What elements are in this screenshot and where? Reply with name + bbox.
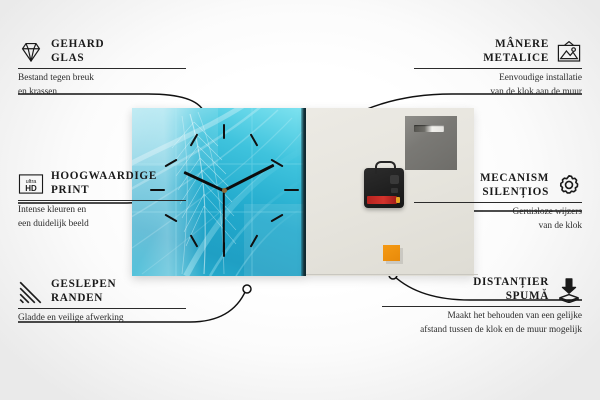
feature-title-2: METALICE xyxy=(483,52,549,66)
foam-spacer xyxy=(383,245,400,261)
feature-divider xyxy=(414,202,582,203)
feature-desc-1: Geruisloze wijzers xyxy=(412,206,582,219)
feature-desc-2: en krassen xyxy=(18,86,188,99)
feature-tempered-glass: GEHARD GLAS Bestand tegen breuk en krass… xyxy=(18,38,188,99)
feature-desc-1: Maakt het behouden van een gelijke xyxy=(382,310,582,323)
feature-title: HOOGWAARDIGE xyxy=(51,170,157,184)
ultra-hd-icon: ultra HD xyxy=(18,171,44,197)
clock-tick-3 xyxy=(284,189,299,191)
mechanism-dial xyxy=(390,175,399,184)
feature-title-2: GLAS xyxy=(51,52,104,66)
feature-desc-1: Gladde en veilige afwerking xyxy=(18,312,198,325)
feature-desc-1: Bestand tegen breuk xyxy=(18,72,188,85)
feature-desc-2: afstand tussen de klok en de muur mogeli… xyxy=(382,324,582,337)
feature-desc-2: van de klok xyxy=(412,220,582,233)
feature-divider xyxy=(18,308,186,309)
endpoint-edges xyxy=(243,285,251,293)
feature-title: MECANISM xyxy=(480,172,549,186)
feature-divider xyxy=(414,68,582,69)
spacer-arrow-icon xyxy=(556,277,582,303)
feature-silent-mechanism: MECANISM SILENȚIOS Geruisloze wijzers va… xyxy=(412,172,582,233)
feature-metal-handles: MÂNERE METALICE Eenvoudige installatie v… xyxy=(412,38,582,99)
battery xyxy=(367,196,397,204)
feature-title-2: SPUMĂ xyxy=(473,290,549,304)
surface-line xyxy=(306,274,478,275)
infographic-canvas: GEHARD GLAS Bestand tegen breuk en krass… xyxy=(0,0,600,400)
clock-centre-hub xyxy=(222,188,227,193)
feature-polished-edges: GESLEPEN RANDEN Gladde en veilige afwerk… xyxy=(18,278,198,326)
mechanism-hook xyxy=(375,161,396,174)
feature-title: DISTANȚIER xyxy=(473,276,549,290)
gear-icon xyxy=(556,173,582,199)
clock-second-hand xyxy=(223,190,225,252)
feature-title: GEHARD xyxy=(51,38,104,52)
feature-title-2: SILENȚIOS xyxy=(480,186,549,200)
feature-divider xyxy=(18,200,186,201)
feature-divider xyxy=(382,306,580,307)
feature-foam-spacer: DISTANȚIER SPUMĂ Maakt het behouden van … xyxy=(382,276,582,337)
svg-text:HD: HD xyxy=(25,184,37,193)
feature-desc-2: van de klok aan de muur xyxy=(412,86,582,99)
silent-clock-mechanism xyxy=(364,168,404,208)
feature-title: GESLEPEN xyxy=(51,278,116,292)
feature-title: MÂNERE xyxy=(483,38,549,52)
feature-title-2: RANDEN xyxy=(51,292,116,306)
clock-tick-12 xyxy=(223,124,225,139)
mechanism-dial-secondary xyxy=(391,188,398,193)
feature-desc-1: Eenvoudige installatie xyxy=(412,72,582,85)
hanger-slot xyxy=(414,125,444,132)
feature-high-quality-print: ultra HD HOOGWAARDIGE PRINT Intense kleu… xyxy=(18,170,198,231)
feature-divider xyxy=(18,68,186,69)
feature-desc-1: Intense kleuren en xyxy=(18,204,198,217)
picture-hanging-icon xyxy=(556,39,582,65)
beveled-edges-icon xyxy=(18,279,44,305)
diamond-icon xyxy=(18,39,44,65)
feature-desc-2: een duidelijk beeld xyxy=(18,218,198,231)
metal-hanger-plate xyxy=(405,116,457,170)
feature-title-2: PRINT xyxy=(51,184,157,198)
